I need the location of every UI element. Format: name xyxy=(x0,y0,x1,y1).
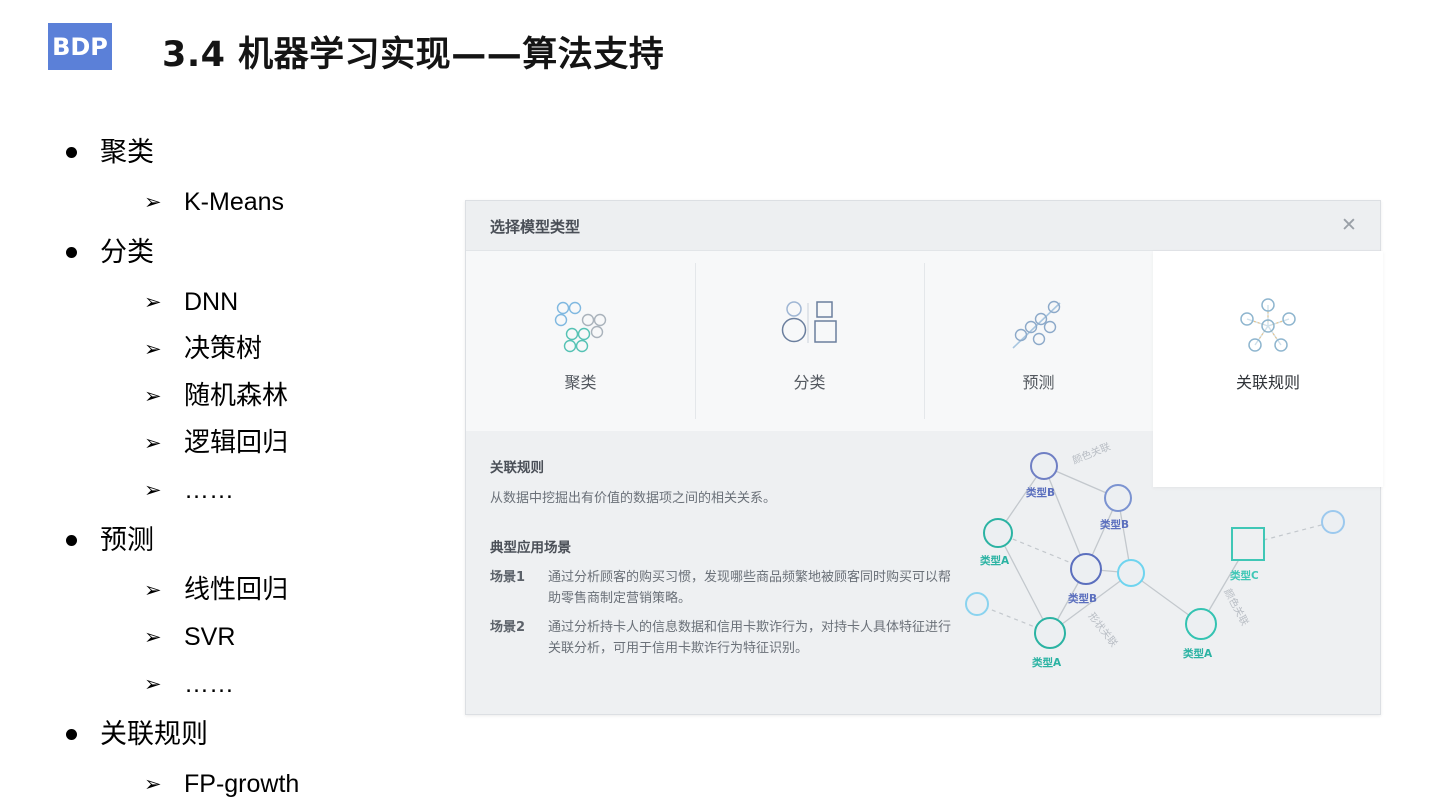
select-model-type-dialog: 选择模型类型 ✕ 聚类分类预测关联规则 关联规则 从数据中挖掘出有价值的数据项之… xyxy=(465,200,1381,715)
tab-shapes-classify[interactable]: 分类 xyxy=(695,251,924,431)
outline-item-label: 线性回归 xyxy=(184,575,288,605)
outline-item: ➢…… xyxy=(56,661,456,708)
algorithm-outline: 聚类➢K-Means分类➢DNN➢决策树➢随机森林➢逻辑回归➢……预测➢线性回归… xyxy=(56,126,456,808)
outline-item-label: FP-growth xyxy=(184,770,299,798)
graph-node-label: 类型B xyxy=(1100,518,1129,531)
graph-node xyxy=(1186,609,1216,639)
scenario-row: 场景1通过分析顾客的购买习惯，发现哪些商品频繁地被顾客同时购买可以帮助零售商制定… xyxy=(490,567,960,609)
graph-node xyxy=(1232,528,1264,560)
outline-item-label: 决策树 xyxy=(184,334,262,364)
bullet-icon xyxy=(66,729,77,740)
scenario-text: 通过分析顾客的购买习惯，发现哪些商品频繁地被顾客同时购买可以帮助零售商制定营销策… xyxy=(548,570,951,606)
outline-item: ➢K-Means xyxy=(56,179,456,226)
bullet-icon xyxy=(66,147,77,158)
outline-group: 聚类 xyxy=(56,126,456,179)
arrow-bullet-icon: ➢ xyxy=(144,179,162,226)
outline-group-label: 分类 xyxy=(100,237,154,268)
bdp-logo-text: BDP xyxy=(52,33,108,61)
graph-node-label: 类型A xyxy=(1183,647,1213,660)
graph-node-label: 类型B xyxy=(1068,592,1097,605)
graph-node xyxy=(984,519,1012,547)
graph-edge-label: 颜色关联 xyxy=(1070,440,1112,467)
scenario-list: 场景1通过分析顾客的购买习惯，发现哪些商品频繁地被顾客同时购买可以帮助零售商制定… xyxy=(490,567,960,659)
tab-label: 关联规则 xyxy=(1153,369,1383,393)
scenario-text: 通过分析持卡人的信息数据和信用卡欺诈行为，对持卡人具体特征进行关联分析，可用于信… xyxy=(548,620,951,656)
outline-item-label: 逻辑回归 xyxy=(184,428,288,458)
bullet-icon xyxy=(66,247,77,258)
graph-node xyxy=(1035,618,1065,648)
dialog-title: 选择模型类型 xyxy=(490,216,580,237)
scenario-label: 场景2 xyxy=(490,617,525,638)
outline-item: ➢线性回归 xyxy=(56,567,456,614)
outline-item-label: K-Means xyxy=(184,188,284,216)
outline-item: ➢…… xyxy=(56,467,456,514)
outline-item-label: …… xyxy=(184,670,234,698)
graph-node xyxy=(1322,511,1344,533)
model-type-tab-strip: 聚类分类预测关联规则 xyxy=(466,251,1380,431)
model-description: 关联规则 从数据中挖掘出有价值的数据项之间的相关关系。 典型应用场景 场景1通过… xyxy=(490,456,960,667)
arrow-bullet-icon: ➢ xyxy=(144,279,162,326)
tab-regression-line[interactable]: 预测 xyxy=(924,251,1153,431)
dialog-header: 选择模型类型 ✕ xyxy=(466,201,1380,251)
graph-edge-label: 颜色关联 xyxy=(1221,586,1251,627)
page-title: 3.4 机器学习实现——算法支持 xyxy=(162,26,664,77)
arrow-bullet-icon: ➢ xyxy=(144,373,162,420)
bdp-logo: BDP xyxy=(48,23,112,70)
arrow-bullet-icon: ➢ xyxy=(144,567,162,614)
outline-list: 聚类➢K-Means分类➢DNN➢决策树➢随机森林➢逻辑回归➢……预测➢线性回归… xyxy=(56,126,456,808)
outline-group: 分类 xyxy=(56,226,456,279)
shapes-classify-icon xyxy=(695,297,924,359)
graph-node xyxy=(1031,453,1057,479)
outline-item: ➢DNN xyxy=(56,279,456,326)
outline-item: ➢随机森林 xyxy=(56,373,456,420)
outline-group: 预测 xyxy=(56,514,456,567)
graph-edge-label: 形状关联 xyxy=(1086,610,1121,650)
tab-label: 聚类 xyxy=(466,369,695,393)
slide-header: BDP 3.4 机器学习实现——算法支持 xyxy=(0,0,1440,110)
tab-label: 分类 xyxy=(695,369,924,393)
outline-group-label: 聚类 xyxy=(100,137,154,168)
arrow-bullet-icon: ➢ xyxy=(144,467,162,514)
outline-item-label: …… xyxy=(184,476,234,504)
outline-item: ➢逻辑回归 xyxy=(56,420,456,467)
outline-item-label: 随机森林 xyxy=(184,381,288,411)
content-description: 从数据中挖掘出有价值的数据项之间的相关关系。 xyxy=(490,489,960,508)
regression-line-icon xyxy=(924,297,1153,359)
content-heading: 关联规则 xyxy=(490,456,960,476)
cluster-scatter-icon xyxy=(466,297,695,359)
scenarios-heading: 典型应用场景 xyxy=(490,536,960,556)
arrow-bullet-icon: ➢ xyxy=(144,661,162,708)
tab-label: 预测 xyxy=(924,369,1153,393)
outline-item-label: DNN xyxy=(184,288,238,316)
graph-node-label: 类型C xyxy=(1230,569,1259,582)
arrow-bullet-icon: ➢ xyxy=(144,420,162,467)
graph-node xyxy=(1105,485,1131,511)
outline-item: ➢决策树 xyxy=(56,326,456,373)
close-icon[interactable]: ✕ xyxy=(1338,214,1360,236)
arrow-bullet-icon: ➢ xyxy=(144,326,162,373)
network-hub-icon xyxy=(1153,297,1383,359)
outline-group-label: 预测 xyxy=(100,525,154,556)
tab-cluster-scatter[interactable]: 聚类 xyxy=(466,251,695,431)
graph-node-label: 类型B xyxy=(1026,486,1055,499)
bullet-icon xyxy=(66,535,77,546)
outline-item-label: SVR xyxy=(184,623,235,651)
scenario-label: 场景1 xyxy=(490,567,525,588)
graph-node-label: 类型A xyxy=(1032,656,1062,669)
graph-node-label: 类型A xyxy=(980,554,1010,567)
outline-item: ➢FP-growth xyxy=(56,761,456,808)
outline-item: ➢SVR xyxy=(56,614,456,661)
graph-node xyxy=(1071,554,1101,584)
arrow-bullet-icon: ➢ xyxy=(144,761,162,808)
outline-group: 关联规则 xyxy=(56,708,456,761)
graph-edge xyxy=(998,533,1050,633)
graph-node xyxy=(966,593,988,615)
arrow-bullet-icon: ➢ xyxy=(144,614,162,661)
graph-node xyxy=(1118,560,1144,586)
scenario-row: 场景2通过分析持卡人的信息数据和信用卡欺诈行为，对持卡人具体特征进行关联分析，可… xyxy=(490,617,960,659)
tab-network-hub[interactable]: 关联规则 xyxy=(1153,251,1383,487)
outline-group-label: 关联规则 xyxy=(100,719,208,750)
